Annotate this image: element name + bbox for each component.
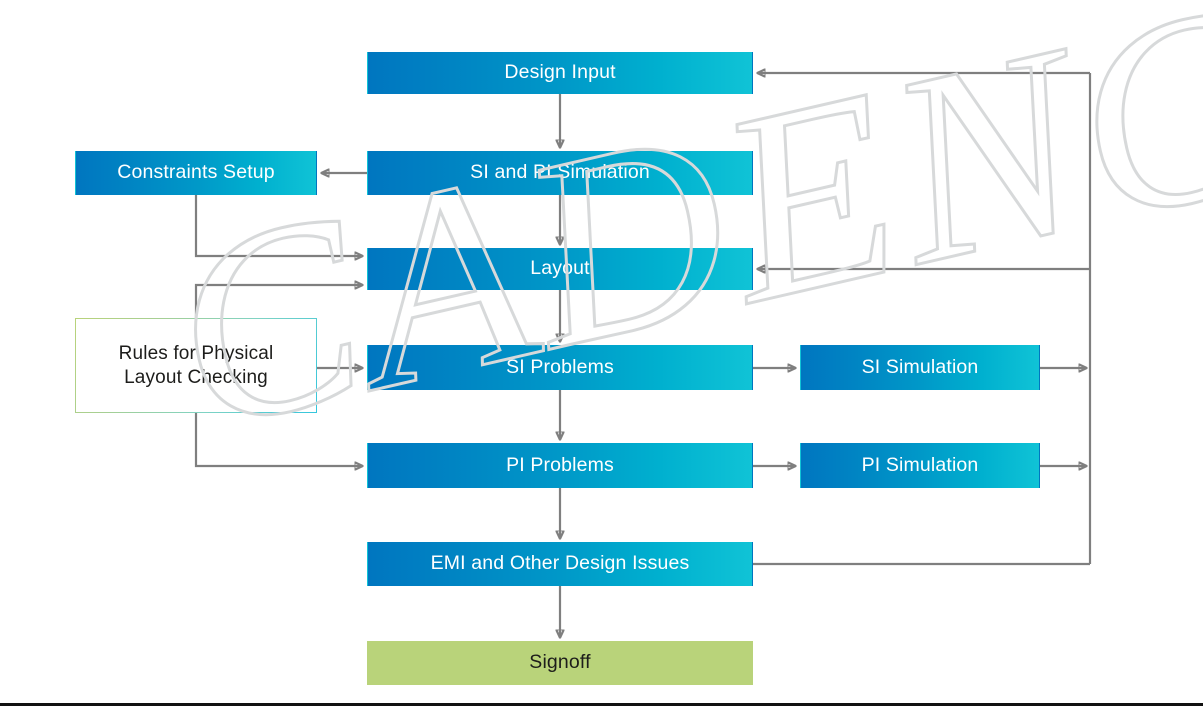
diagram-canvas: CADENCE [0, 0, 1203, 714]
node-rules-for-physical-layout-checking[interactable]: Rules for Physical Layout Checking [75, 318, 317, 413]
node-si-problems[interactable]: SI Problems [367, 345, 753, 390]
node-rules-label-wrapper: Rules for Physical Layout Checking [119, 342, 274, 388]
node-rules-label-line1: Rules for Physical [119, 343, 274, 364]
node-layout-label: Layout [530, 257, 589, 281]
node-pi-problems[interactable]: PI Problems [367, 443, 753, 488]
node-constraints-setup-label: Constraints Setup [117, 161, 275, 185]
node-rules-label-line2: Layout Checking [124, 367, 268, 388]
edge-rules-to-pi-problems [196, 413, 362, 466]
node-constraints-setup[interactable]: Constraints Setup [75, 151, 317, 195]
edge-rules-to-layout [196, 285, 362, 318]
node-design-input-label: Design Input [504, 61, 615, 85]
node-pi-simulation[interactable]: PI Simulation [800, 443, 1040, 488]
node-pi-simulation-label: PI Simulation [862, 454, 979, 478]
node-si-simulation[interactable]: SI Simulation [800, 345, 1040, 390]
edge-constraints-to-layout [196, 195, 362, 256]
node-si-problems-label: SI Problems [506, 356, 614, 380]
slide-bottom-rule [0, 703, 1203, 706]
node-signoff-label: Signoff [529, 651, 590, 675]
node-si-simulation-label: SI Simulation [862, 356, 979, 380]
node-design-input[interactable]: Design Input [367, 52, 753, 94]
node-emi-and-other-design-issues[interactable]: EMI and Other Design Issues [367, 542, 753, 586]
node-si-and-pi-simulation[interactable]: SI and PI Simulation [367, 151, 753, 195]
node-pi-problems-label: PI Problems [506, 454, 614, 478]
node-layout[interactable]: Layout [367, 248, 753, 290]
node-signoff[interactable]: Signoff [367, 641, 753, 685]
node-si-and-pi-simulation-label: SI and PI Simulation [470, 161, 650, 185]
node-emi-label: EMI and Other Design Issues [431, 552, 690, 576]
